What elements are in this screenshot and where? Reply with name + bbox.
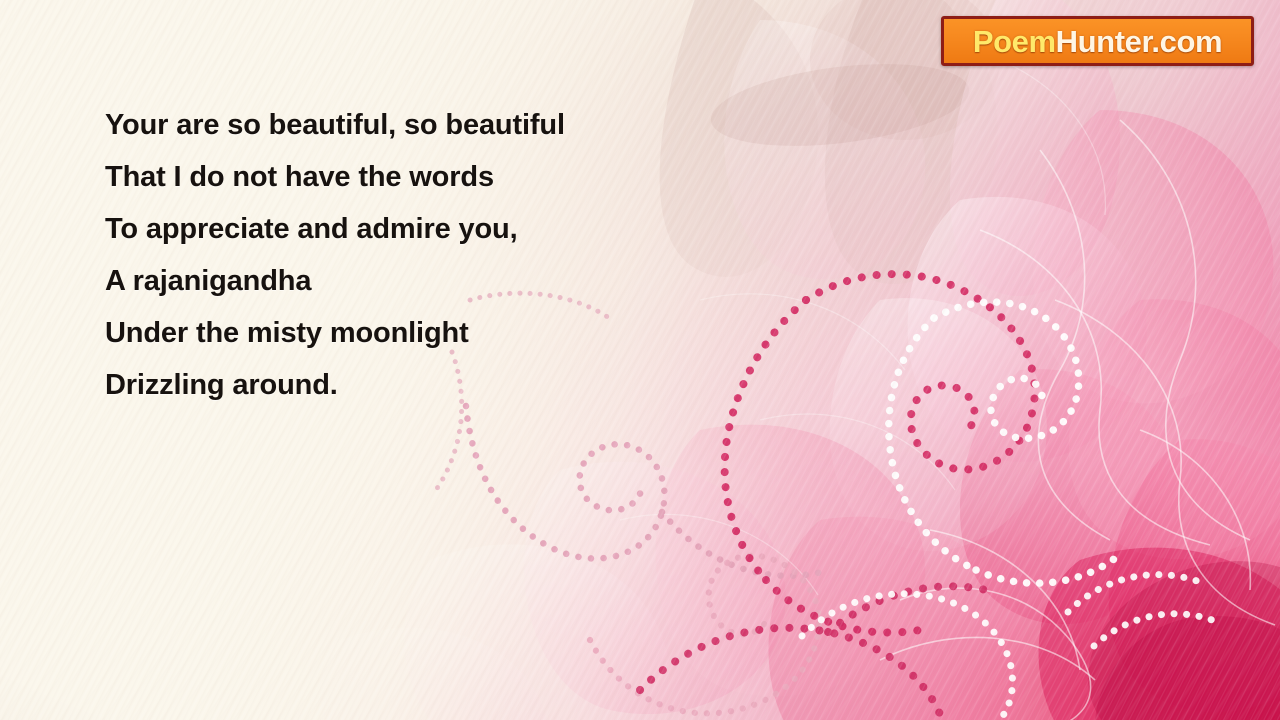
logo-text-hunter: Hunter.com	[1056, 24, 1223, 59]
poem-line: Your are so beautiful, so beautiful	[105, 99, 825, 151]
poemhunter-logo-text: PoemHunter.com	[973, 26, 1222, 57]
poem-slide: Your are so beautiful, so beautiful That…	[0, 0, 1280, 720]
poem-line: That I do not have the words	[105, 151, 825, 203]
poem-line: A rajanigandha	[105, 255, 825, 307]
logo-text-poem: Poem	[973, 24, 1056, 59]
poem-line: To appreciate and admire you,	[105, 203, 825, 255]
poem-text-block: Your are so beautiful, so beautiful That…	[105, 99, 825, 411]
poemhunter-logo[interactable]: PoemHunter.com	[941, 16, 1254, 66]
poem-line: Drizzling around.	[105, 359, 825, 411]
poem-line: Under the misty moonlight	[105, 307, 825, 359]
